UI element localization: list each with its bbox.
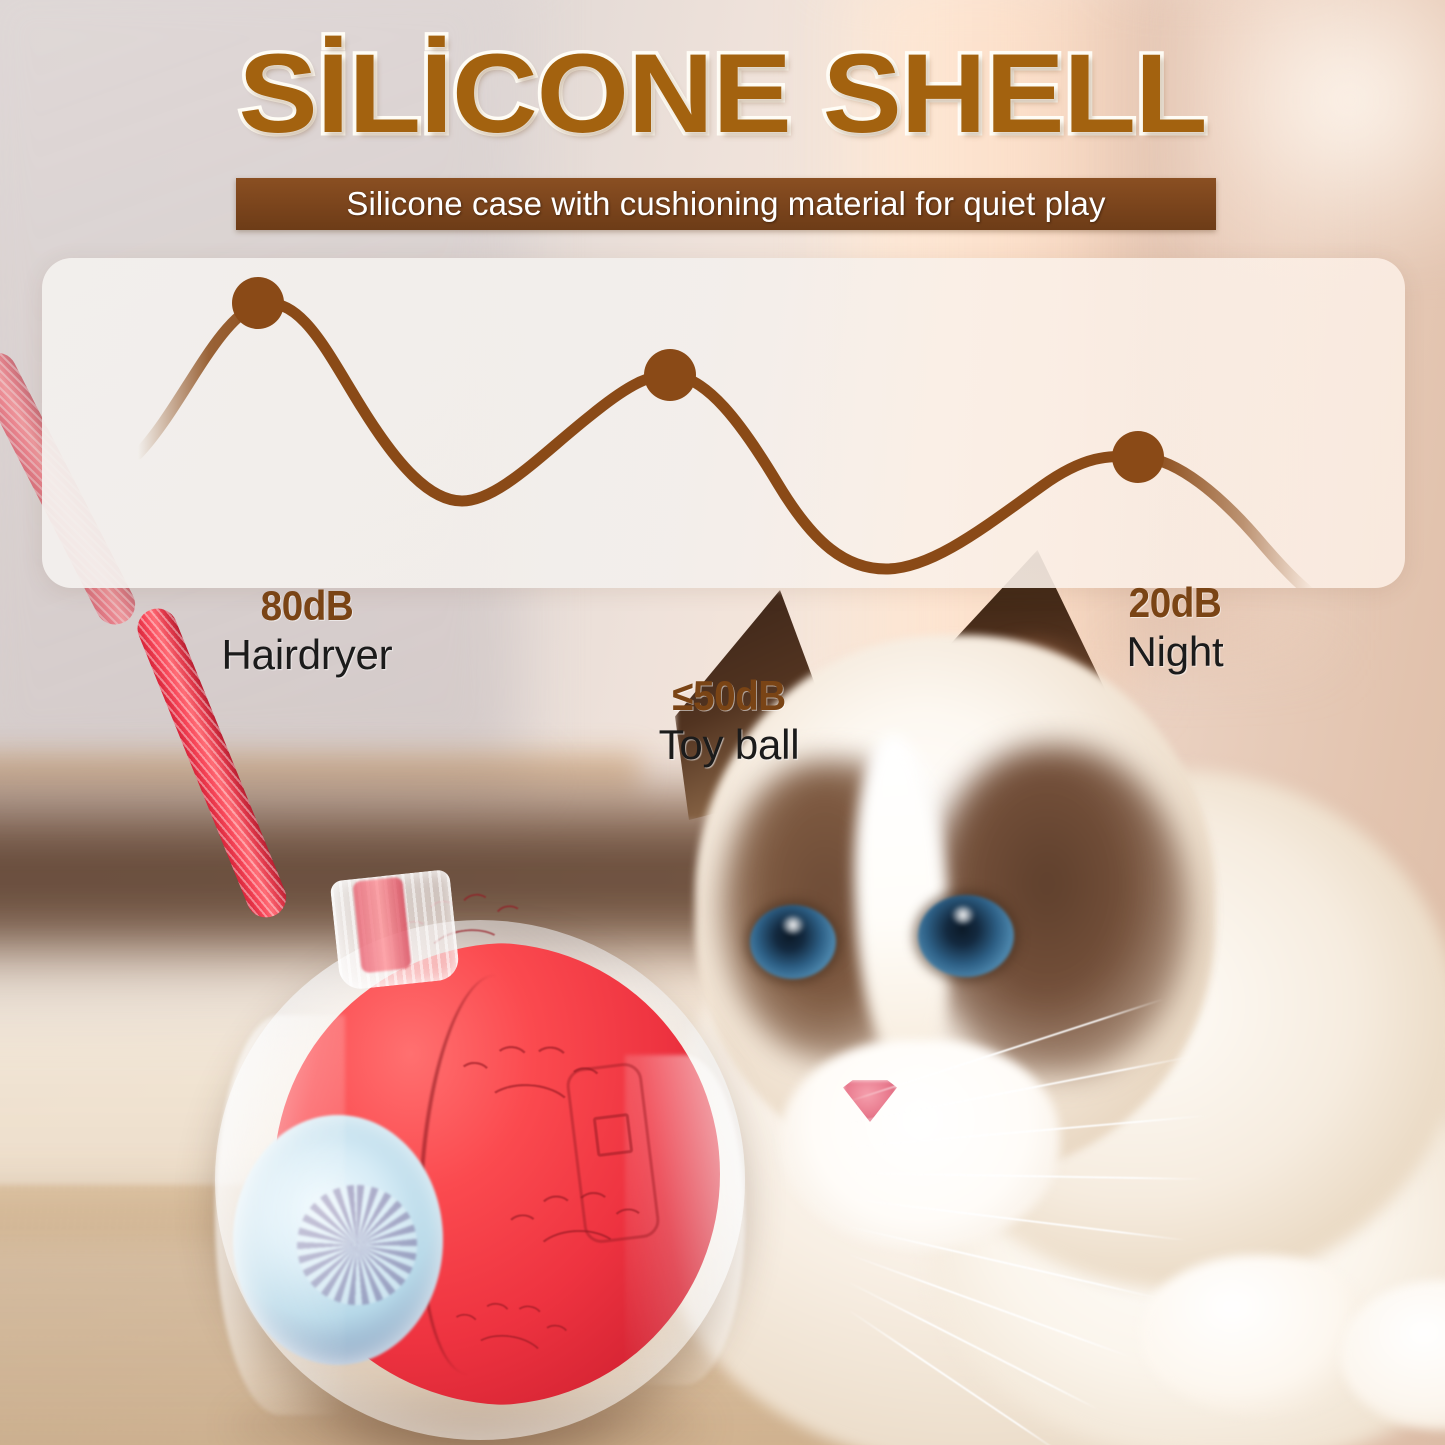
noise-source-night: Night	[1050, 629, 1300, 674]
whisker-strand	[850, 1115, 1209, 1148]
cat-eye-highlight-left	[782, 916, 804, 934]
noise-wave-chart	[42, 258, 1405, 588]
whisker-strand	[850, 1254, 1133, 1358]
page-title: SİLİCONE SHELL	[0, 38, 1445, 150]
cat-eye-highlight-right	[952, 906, 974, 924]
noise-comparison-panel: 80dB Hairdryer ≤50dB Toy ball 20dB Night	[42, 258, 1405, 588]
noise-label-toy-ball: ≤50dB Toy ball	[604, 673, 854, 768]
noise-source-hairdryer: Hairdryer	[182, 632, 432, 677]
wave-marker-toy-ball	[644, 349, 696, 401]
noise-label-night: 20dB Night	[1050, 580, 1300, 675]
wave-marker-hairdryer	[232, 277, 284, 329]
power-icon	[593, 1113, 634, 1157]
product-infographic: 80dB Hairdryer ≤50dB Toy ball 20dB Night…	[0, 0, 1445, 1445]
cat-paw-front	[1140, 1255, 1370, 1415]
noise-value-toy-ball: ≤50dB	[614, 673, 844, 718]
noise-value-hairdryer: 80dB	[192, 583, 422, 628]
interactive-cat-ball	[205, 865, 785, 1445]
whisker-strand	[850, 1172, 1205, 1180]
page-subtitle: Silicone case with cushioning material f…	[346, 185, 1105, 223]
whisker-strand	[850, 1226, 1162, 1300]
pawprint-toe	[458, 892, 494, 924]
whisker-strand	[850, 1198, 1188, 1241]
noise-label-hairdryer: 80dB Hairdryer	[182, 583, 432, 678]
ball-glass-highlight-left	[215, 1015, 345, 1415]
noise-source-toy-ball: Toy ball	[604, 722, 854, 767]
subtitle-band: Silicone case with cushioning material f…	[236, 178, 1216, 230]
noise-value-night: 20dB	[1060, 580, 1290, 625]
ball-rope-collar-insert	[352, 877, 411, 974]
wave-marker-night	[1112, 431, 1164, 483]
